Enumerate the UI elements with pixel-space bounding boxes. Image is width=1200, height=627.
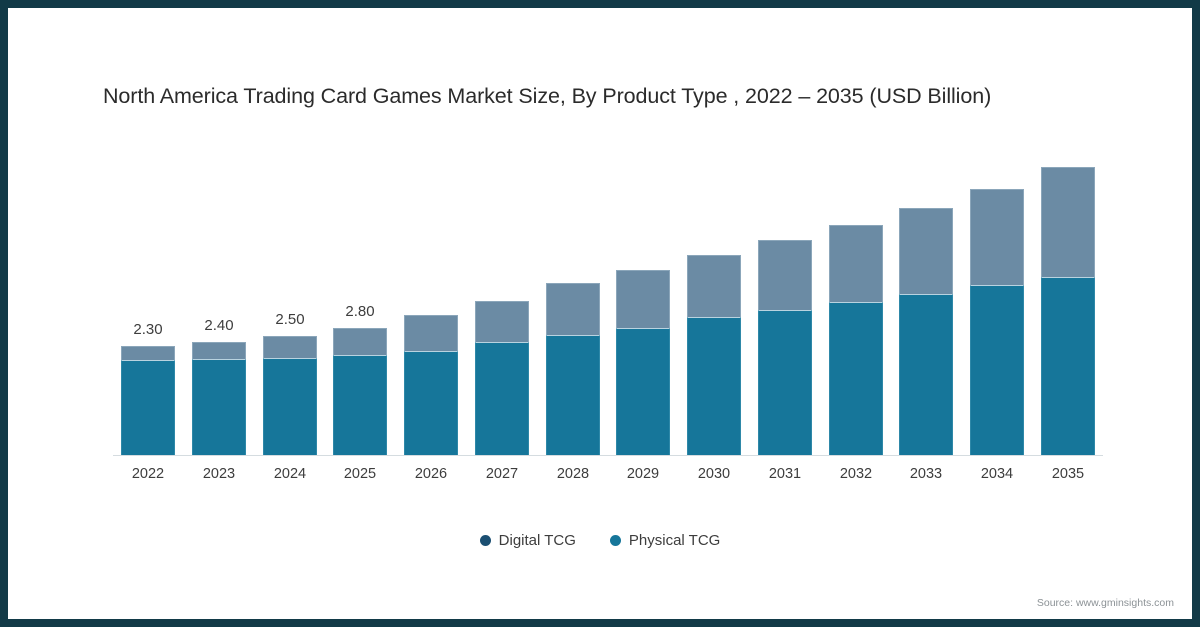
x-tick-2025: 2025	[320, 466, 400, 482]
legend-item-physical-tcg[interactable]: Physical TCG	[610, 532, 720, 549]
bar-stack	[687, 255, 741, 455]
bar-stack	[404, 315, 458, 455]
bar-stack	[616, 270, 670, 455]
legend-label: Physical TCG	[629, 532, 720, 549]
bar-segment-digital-tcg[interactable]	[758, 240, 812, 310]
source-attribution: Source: www.gminsights.com	[1037, 597, 1174, 609]
bar-stack	[758, 240, 812, 455]
bar-segment-physical-tcg[interactable]	[546, 335, 600, 455]
chart-frame: North America Trading Card Games Market …	[0, 0, 1200, 627]
bar-segment-physical-tcg[interactable]	[404, 351, 458, 455]
bar-segment-physical-tcg[interactable]	[616, 328, 670, 455]
bar-segment-physical-tcg[interactable]	[758, 310, 812, 455]
bar-value-label: 2.40	[178, 317, 260, 334]
x-tick-2023: 2023	[179, 466, 259, 482]
bar-stack	[546, 283, 600, 455]
bar-segment-physical-tcg[interactable]	[192, 359, 246, 455]
bar-segment-physical-tcg[interactable]	[687, 317, 741, 455]
x-tick-2035: 2035	[1028, 466, 1108, 482]
bar-segment-digital-tcg[interactable]	[829, 225, 883, 302]
x-tick-2027: 2027	[462, 466, 542, 482]
plot-area: 2.302.402.502.80	[113, 148, 1103, 456]
bar-segment-digital-tcg[interactable]	[263, 336, 317, 358]
bar-segment-digital-tcg[interactable]	[970, 189, 1024, 285]
bar-segment-digital-tcg[interactable]	[404, 315, 458, 351]
bar-segment-physical-tcg[interactable]	[829, 302, 883, 455]
legend-label: Digital TCG	[499, 532, 576, 549]
bar-segment-digital-tcg[interactable]	[333, 328, 387, 355]
bar-segment-digital-tcg[interactable]	[899, 208, 953, 294]
bar-segment-digital-tcg[interactable]	[192, 342, 246, 359]
bar-stack	[970, 189, 1024, 455]
bar-stack	[121, 346, 175, 455]
bar-stack	[333, 328, 387, 455]
bar-segment-digital-tcg[interactable]	[475, 301, 529, 342]
legend-item-digital-tcg[interactable]: Digital TCG	[480, 532, 576, 549]
x-tick-2029: 2029	[603, 466, 683, 482]
x-tick-2028: 2028	[533, 466, 613, 482]
x-tick-2034: 2034	[957, 466, 1037, 482]
x-tick-2031: 2031	[745, 466, 825, 482]
bar-segment-physical-tcg[interactable]	[475, 342, 529, 455]
bar-segment-physical-tcg[interactable]	[121, 360, 175, 455]
x-tick-2026: 2026	[391, 466, 471, 482]
bar-stack	[192, 342, 246, 455]
bar-segment-digital-tcg[interactable]	[616, 270, 670, 328]
x-axis-tick-labels: 2022202320242025202620272028202920302031…	[113, 466, 1103, 490]
legend-dot-icon	[480, 535, 491, 546]
bar-segment-physical-tcg[interactable]	[1041, 277, 1095, 455]
x-tick-2032: 2032	[816, 466, 896, 482]
bar-segment-digital-tcg[interactable]	[687, 255, 741, 317]
bar-segment-digital-tcg[interactable]	[1041, 167, 1095, 277]
bar-segment-physical-tcg[interactable]	[970, 285, 1024, 455]
bar-value-label: 2.80	[319, 303, 401, 320]
chart-canvas: North America Trading Card Games Market …	[8, 8, 1192, 619]
x-tick-2033: 2033	[886, 466, 966, 482]
x-axis-baseline	[113, 455, 1103, 456]
chart-legend: Digital TCGPhysical TCG	[8, 532, 1192, 549]
bar-segment-digital-tcg[interactable]	[121, 346, 175, 360]
bar-value-label: 2.30	[107, 321, 189, 338]
legend-dot-icon	[610, 535, 621, 546]
x-tick-2030: 2030	[674, 466, 754, 482]
bar-stack	[1041, 167, 1095, 455]
bar-segment-physical-tcg[interactable]	[333, 355, 387, 455]
x-tick-2024: 2024	[250, 466, 330, 482]
bar-stack	[263, 336, 317, 455]
bar-segment-physical-tcg[interactable]	[899, 294, 953, 455]
bar-segment-digital-tcg[interactable]	[546, 283, 600, 335]
bar-stack	[829, 225, 883, 455]
bar-segment-physical-tcg[interactable]	[263, 358, 317, 455]
x-tick-2022: 2022	[108, 466, 188, 482]
bar-stack	[899, 208, 953, 455]
bar-stack	[475, 301, 529, 455]
page-title: North America Trading Card Games Market …	[103, 84, 1123, 109]
